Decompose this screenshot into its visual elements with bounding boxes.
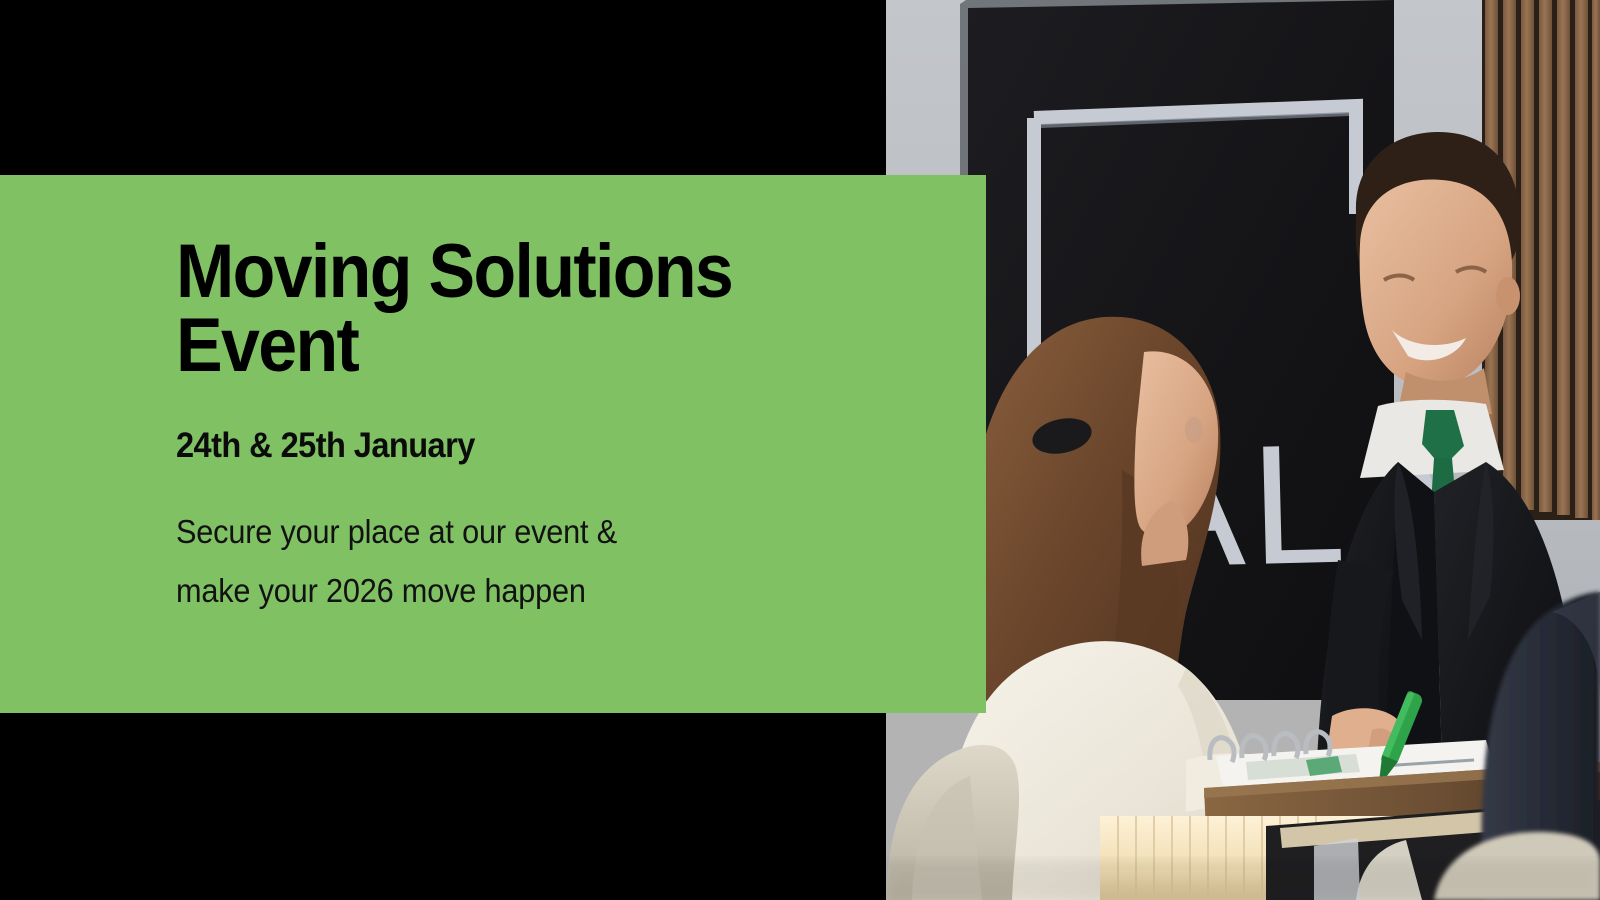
adviser-ear — [1496, 277, 1520, 315]
promo-text-stack: Moving Solutions Event 24th & 25th Janua… — [176, 235, 936, 621]
event-date: 24th & 25th January — [176, 426, 883, 466]
green-promo-block: Moving Solutions Event 24th & 25th Janua… — [0, 175, 986, 713]
event-description: Secure your place at our event & make yo… — [176, 502, 883, 621]
customer-ear — [1185, 417, 1203, 443]
photo-scene: CALA — [886, 0, 1600, 900]
page-title: Moving Solutions Event — [176, 235, 875, 384]
promo-banner: CALA — [0, 0, 1600, 900]
event-photo: CALA — [886, 0, 1600, 900]
